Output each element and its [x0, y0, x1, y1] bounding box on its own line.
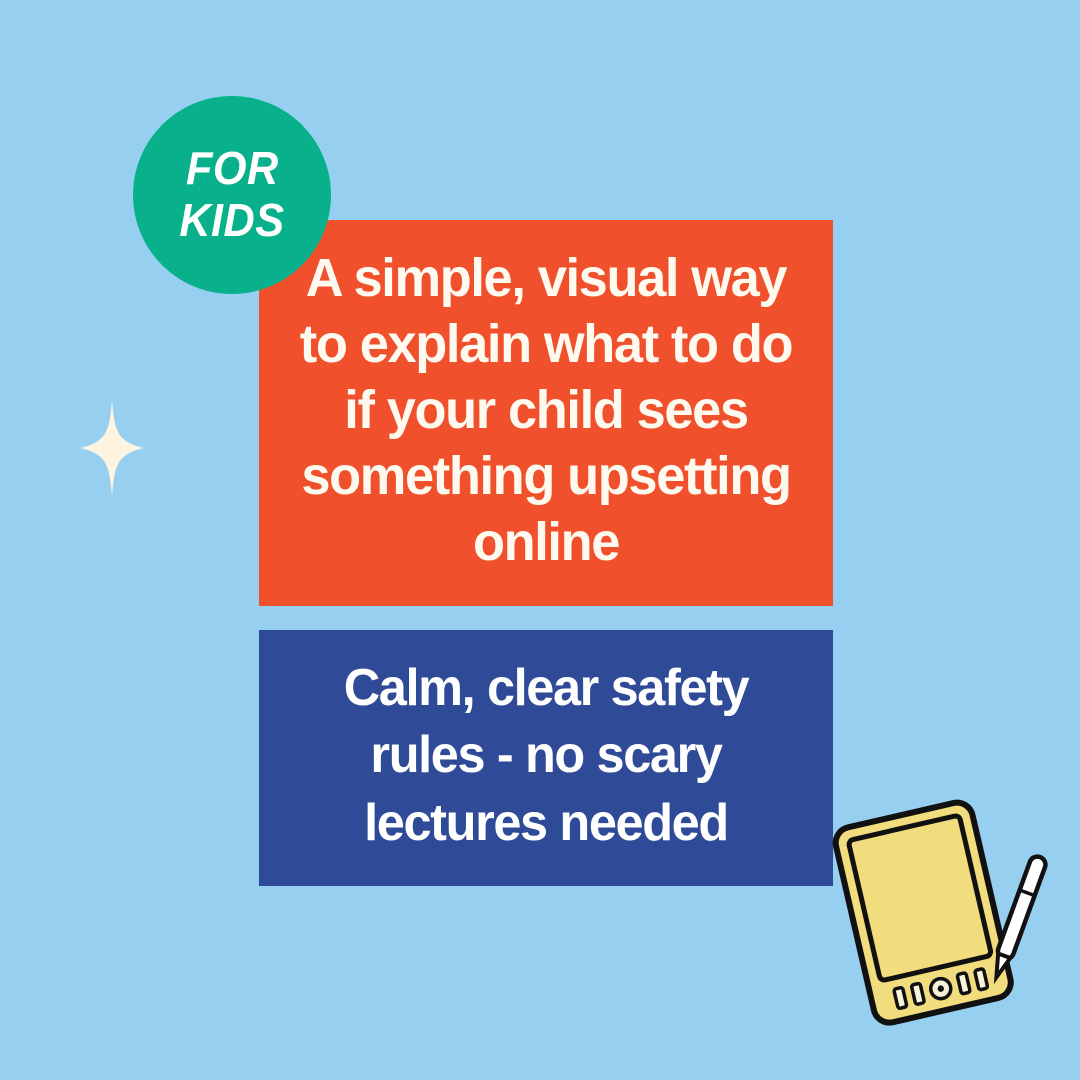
subheadline-text: Calm, clear safety rules - no scary lect…	[287, 655, 805, 858]
headline-text: A simple, visual way to explain what to …	[285, 246, 807, 575]
sparkle-icon	[78, 398, 146, 498]
subheadline-card: Calm, clear safety rules - no scary lect…	[259, 630, 833, 886]
poster-canvas: A simple, visual way to explain what to …	[0, 0, 1080, 1080]
tablet-illustration	[818, 795, 1068, 1045]
headline-card: A simple, visual way to explain what to …	[259, 220, 833, 606]
tablet-device	[833, 799, 1014, 1025]
badge-line-2: KIDS	[179, 195, 284, 247]
for-kids-badge: FOR KIDS	[133, 96, 331, 294]
badge-line-1: FOR	[186, 143, 279, 195]
